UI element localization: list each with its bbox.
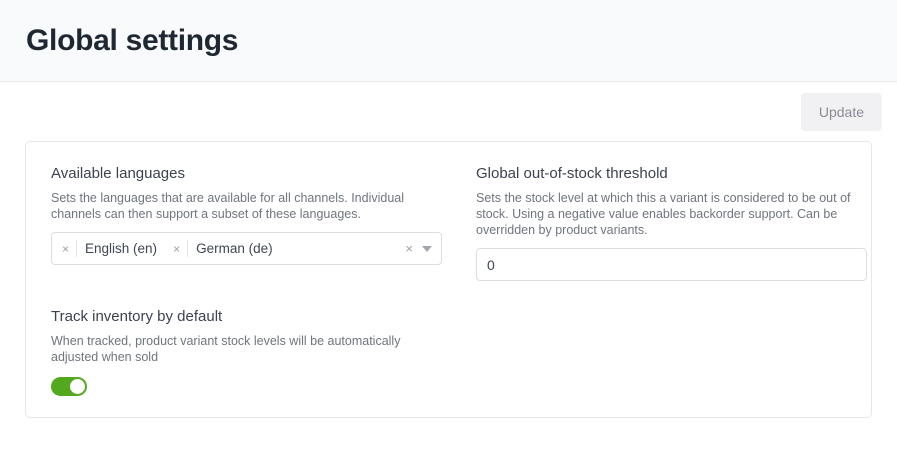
- language-chip-list: × English (en) × German (de): [60, 238, 405, 259]
- chip-remove-icon[interactable]: ×: [60, 243, 76, 255]
- track-inventory-description: When tracked, product variant stock leve…: [51, 333, 442, 365]
- out-of-stock-threshold-input[interactable]: [476, 248, 867, 281]
- out-of-stock-threshold-label: Global out-of-stock threshold: [476, 164, 867, 183]
- track-inventory-toggle[interactable]: [51, 377, 87, 396]
- available-languages-field: Available languages Sets the languages t…: [51, 164, 442, 281]
- track-inventory-label: Track inventory by default: [51, 307, 442, 326]
- chip-divider: [76, 240, 77, 257]
- page-header: Global settings: [0, 0, 897, 82]
- track-inventory-grid: Track inventory by default When tracked,…: [51, 307, 846, 401]
- language-chip[interactable]: × German (de): [171, 238, 273, 259]
- track-inventory-field: Track inventory by default When tracked,…: [51, 307, 442, 401]
- action-bar: Update: [0, 82, 897, 141]
- available-languages-multiselect[interactable]: × English (en) × German (de) ×: [51, 232, 442, 265]
- spacer-column: [476, 307, 867, 401]
- chevron-down-icon[interactable]: [422, 246, 432, 252]
- available-languages-description: Sets the languages that are available fo…: [51, 190, 442, 222]
- settings-grid: Available languages Sets the languages t…: [51, 164, 846, 281]
- out-of-stock-threshold-field: Global out-of-stock threshold Sets the s…: [476, 164, 867, 281]
- clear-all-icon[interactable]: ×: [405, 242, 413, 255]
- chip-divider: [187, 240, 188, 257]
- chip-label: German (de): [196, 240, 273, 257]
- track-inventory-toggle-row: [51, 377, 442, 401]
- update-button[interactable]: Update: [801, 93, 882, 131]
- toggle-knob: [70, 379, 85, 394]
- available-languages-label: Available languages: [51, 164, 442, 183]
- chip-label: English (en): [85, 240, 157, 257]
- settings-card: Available languages Sets the languages t…: [25, 141, 872, 418]
- multiselect-actions: ×: [405, 242, 435, 255]
- out-of-stock-threshold-description: Sets the stock level at which this a var…: [476, 190, 867, 238]
- language-chip[interactable]: × English (en): [60, 238, 157, 259]
- chip-remove-icon[interactable]: ×: [171, 243, 187, 255]
- page-title: Global settings: [26, 26, 238, 56]
